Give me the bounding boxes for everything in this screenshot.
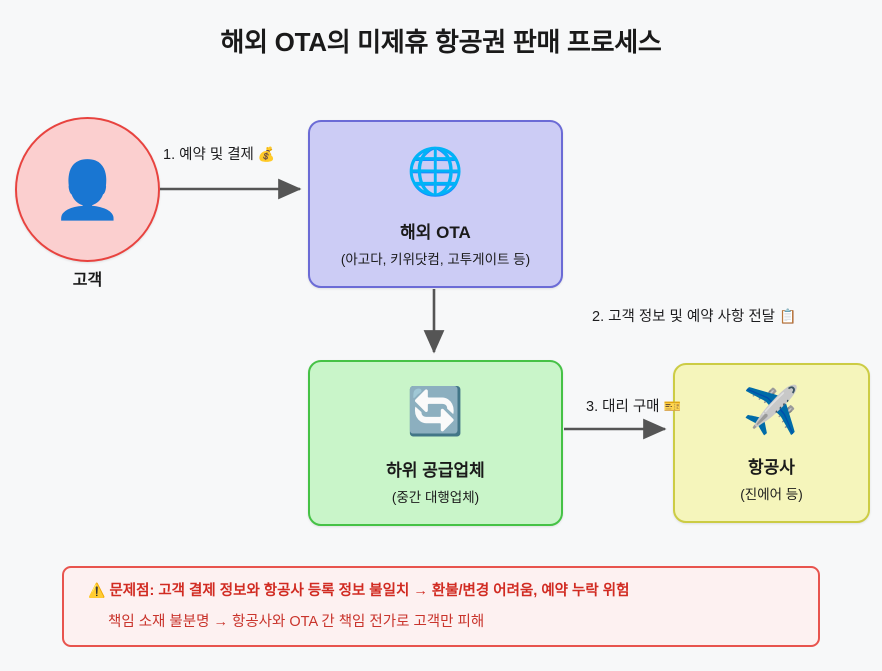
edge-label-booking-payment-text: 1. 예약 및 결제 [163,147,254,163]
clipboard-icon: 📋 [779,308,796,324]
node-overseas-ota[interactable]: 🌐 해외 OTA (아고다, 키위닷컴, 고투게이트 등) [308,120,563,288]
page-title: 해외 OTA의 미제휴 항공권 판매 프로세스 [0,22,882,59]
money-bag-icon: 💰 [258,146,275,162]
warning-triangle-icon: ⚠️ [88,582,105,598]
node-airline-subtitle: (진에어 등) [740,483,802,503]
person-silhouette-icon: 👤 [53,162,123,218]
airplane-icon: ✈️ [743,387,800,433]
refresh-sync-icon: 🔄 [407,388,464,434]
node-overseas-ota-subtitle: (아고다, 키위닷컴, 고투게이트 등) [341,248,530,268]
node-overseas-ota-title: 해외 OTA [400,218,471,243]
node-customer-label: 고객 [15,266,160,290]
warning-primary-line: ⚠️ 문제점: 고객 결제 정보와 항공사 등록 정보 불일치 → 환불/변경 … [88,582,794,600]
node-customer[interactable]: 👤 [15,117,160,262]
edge-label-proxy-purchase-text: 3. 대리 구매 [586,399,660,415]
node-sub-supplier-subtitle: (중간 대행업체) [392,486,479,506]
warning-primary-text: 문제점: 고객 결제 정보와 항공사 등록 정보 불일치 → 환불/변경 어려움… [109,583,629,599]
edge-label-proxy-purchase: 3. 대리 구매 🎫 [586,395,681,416]
node-airline-title: 항공사 [748,453,795,478]
edge-label-customer-info-transfer: 2. 고객 정보 및 예약 사항 전달 📋 [592,305,796,326]
node-airline[interactable]: ✈️ 항공사 (진에어 등) [673,363,870,523]
node-sub-supplier-title: 하위 공급업체 [386,456,485,481]
node-sub-supplier[interactable]: 🔄 하위 공급업체 (중간 대행업체) [308,360,563,526]
warning-secondary-line: 책임 소재 불분명 → 항공사와 OTA 간 책임 전가로 고객만 피해 [88,613,794,631]
ticket-icon: 🎫 [664,398,681,414]
warning-callout: ⚠️ 문제점: 고객 결제 정보와 항공사 등록 정보 불일치 → 환불/변경 … [62,566,820,647]
edge-label-booking-payment: 1. 예약 및 결제 💰 [163,143,275,164]
globe-icon: 🌐 [407,148,464,194]
edge-label-customer-info-transfer-text: 2. 고객 정보 및 예약 사항 전달 [592,309,775,325]
diagram-canvas: 해외 OTA의 미제휴 항공권 판매 프로세스 👤 고객 🌐 해외 OTA (아… [0,0,882,671]
